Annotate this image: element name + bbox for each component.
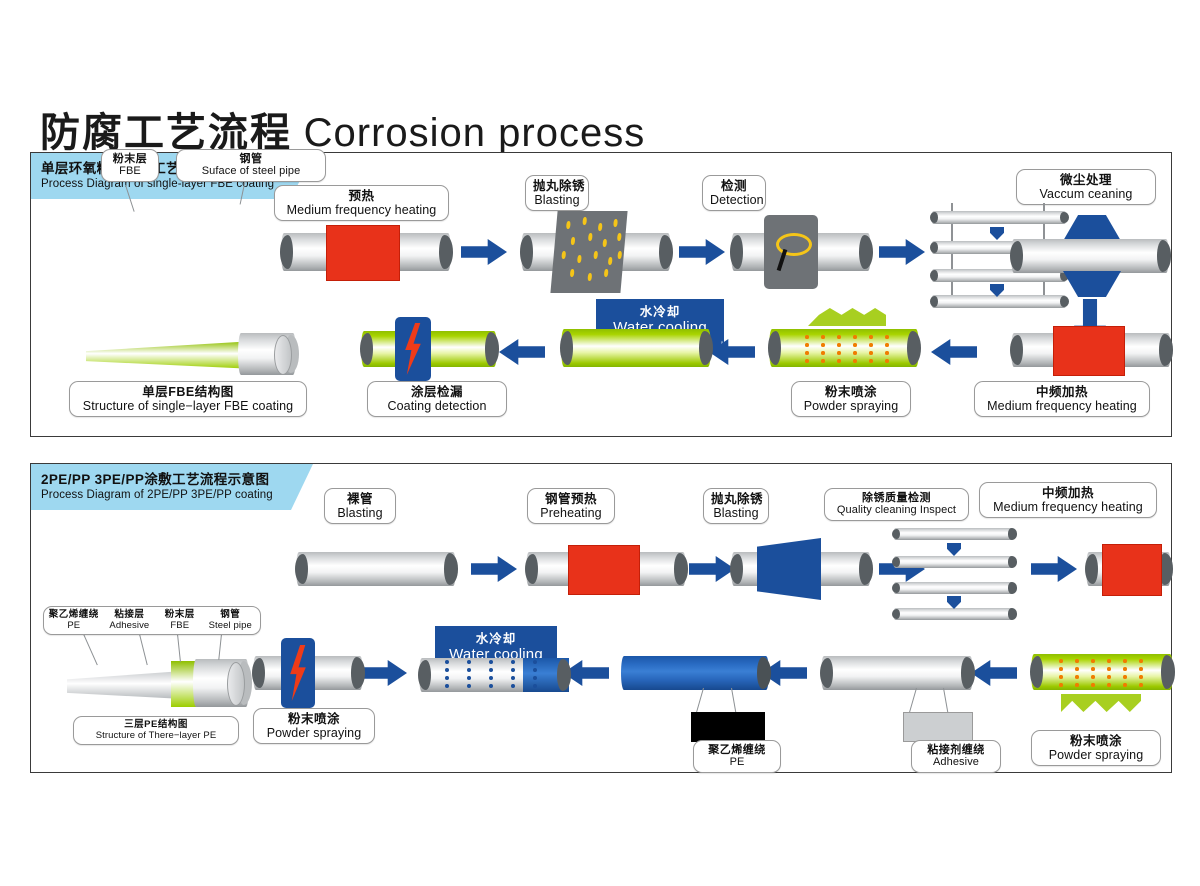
caption-structure-3pe: 三层PE结构图 Structure of There−layer PE <box>73 716 239 745</box>
spark-icon <box>400 323 426 375</box>
detection-collar <box>764 215 818 289</box>
label-steel-pipe-surface: 钢管 Suface of steel pipe <box>176 149 326 182</box>
pipe-rack-2 <box>893 522 1021 620</box>
arrow-left-3 <box>499 339 545 365</box>
pipe-adhesive <box>821 656 973 690</box>
heat-zone-3 <box>568 545 640 595</box>
rack-marker-1 <box>990 227 1004 240</box>
pipe-preheat <box>281 233 451 271</box>
page-title-en: Corrosion process <box>304 111 646 155</box>
arrow-right-9 <box>361 660 407 686</box>
panel-3pe-process: 2PE/PP 3PE/PP涂敷工艺流程示意图 Process Diagram o… <box>30 463 1172 773</box>
arrow-right-8 <box>1031 556 1077 582</box>
arrow-right-6 <box>689 556 735 582</box>
label-powder-spraying-1: 粉末喷涂 Powder spraying <box>791 381 911 417</box>
label-detection: 检测 Detection <box>702 175 766 211</box>
label-vacuum-cleaning: 微尘处理 Vaccum ceaning <box>1016 169 1156 205</box>
heat-zone <box>326 225 400 281</box>
pipe-bare <box>296 552 456 586</box>
label-coating-detection: 涂层检漏 Coating detection <box>367 381 507 417</box>
label-preheat: 预热 Medium frequency heating <box>274 185 449 221</box>
pipe-preheating <box>526 552 686 586</box>
diagram-page: 防腐工艺流程 Corrosion process 单层环氧粉末涂敷工艺流程示意图… <box>0 0 1200 886</box>
arrow-left-4 <box>971 660 1017 686</box>
label-preheating: 钢管预热 Preheating <box>527 488 615 524</box>
arrow-right-1 <box>461 239 507 265</box>
arrow-left-1 <box>931 339 977 365</box>
caption-structure-fbe: 单层FBE结构图 Structure of single−layer FBE c… <box>69 381 307 417</box>
spark-icon-2 <box>285 645 311 701</box>
pipe-pe <box>621 656 769 690</box>
arrow-right-5 <box>471 556 517 582</box>
label-pe-wrap: 聚乙烯缠绕 PE <box>693 740 781 773</box>
detector-coil-2 <box>281 638 315 708</box>
label-fbe-layer: 粉末层 FBE <box>101 149 159 182</box>
pipe-powder-spray <box>769 329 919 367</box>
pipe-powder-spray-2 <box>1031 654 1173 690</box>
swatch-pe <box>691 712 765 742</box>
swatch-adhesive <box>903 712 973 742</box>
structure-fbe <box>86 333 326 373</box>
pipe-blasting <box>521 233 671 271</box>
label-adhesive-wrap: 粘接剂缠绕 Adhesive <box>911 740 1001 773</box>
vacuum-station <box>1011 215 1171 295</box>
vacuum-hood-bottom <box>1063 271 1121 297</box>
blast-chamber <box>550 211 627 293</box>
panel2-header-cn: 2PE/PP 3PE/PP涂敷工艺流程示意图 <box>41 468 291 488</box>
label-quality-inspect: 除锈质量检测 Quality cleaning Inspect <box>824 488 969 521</box>
vacuum-hood-top <box>1063 215 1121 241</box>
label-bare-pipe: 裸管 Blasting <box>324 488 396 524</box>
pipe-blasting-cone <box>731 552 871 586</box>
spray-fan-2 <box>1061 694 1141 712</box>
blast-cone <box>757 538 821 600</box>
legend-3pe-layers: 聚乙烯缠绕 PE 粘接层 Adhesive 粉末层 FBE 钢管 Steel p… <box>43 606 261 635</box>
heat-zone-2 <box>1053 326 1125 376</box>
label-powder-spraying-3: 粉末喷涂 Powder spraying <box>1031 730 1161 766</box>
pipe-heated-right <box>1086 552 1171 586</box>
pipe-water-cooling <box>561 329 711 367</box>
label-blasting-2: 抛丸除锈 Blasting <box>703 488 769 524</box>
pipe-reheat <box>1011 333 1171 367</box>
spray-fan-1 <box>808 308 886 326</box>
label-blasting: 抛丸除锈 Blasting <box>525 175 589 211</box>
panel2-header-en: Process Diagram of 2PE/PP 3PE/PP coating <box>41 489 291 501</box>
pipe-cooling-2 <box>419 658 569 692</box>
arrow-right-2 <box>679 239 725 265</box>
heat-zone-4 <box>1102 544 1162 596</box>
detector-coil <box>395 317 431 381</box>
pipe-detection <box>731 233 871 271</box>
rack2-marker-1 <box>947 543 961 556</box>
structure-3pe <box>43 649 273 719</box>
panel2-header: 2PE/PP 3PE/PP涂敷工艺流程示意图 Process Diagram o… <box>31 464 291 510</box>
pipe-coating-detection <box>361 331 497 367</box>
label-medium-frequency-heating-3: 中频加热 Medium frequency heating <box>979 482 1157 518</box>
label-medium-frequency-heating-2: 中频加热 Medium frequency heating <box>974 381 1150 417</box>
panel-fbe-process: 单层环氧粉末涂敷工艺流程示意图 Process Diagram of singl… <box>30 152 1172 437</box>
arrow-right-3 <box>879 239 925 265</box>
